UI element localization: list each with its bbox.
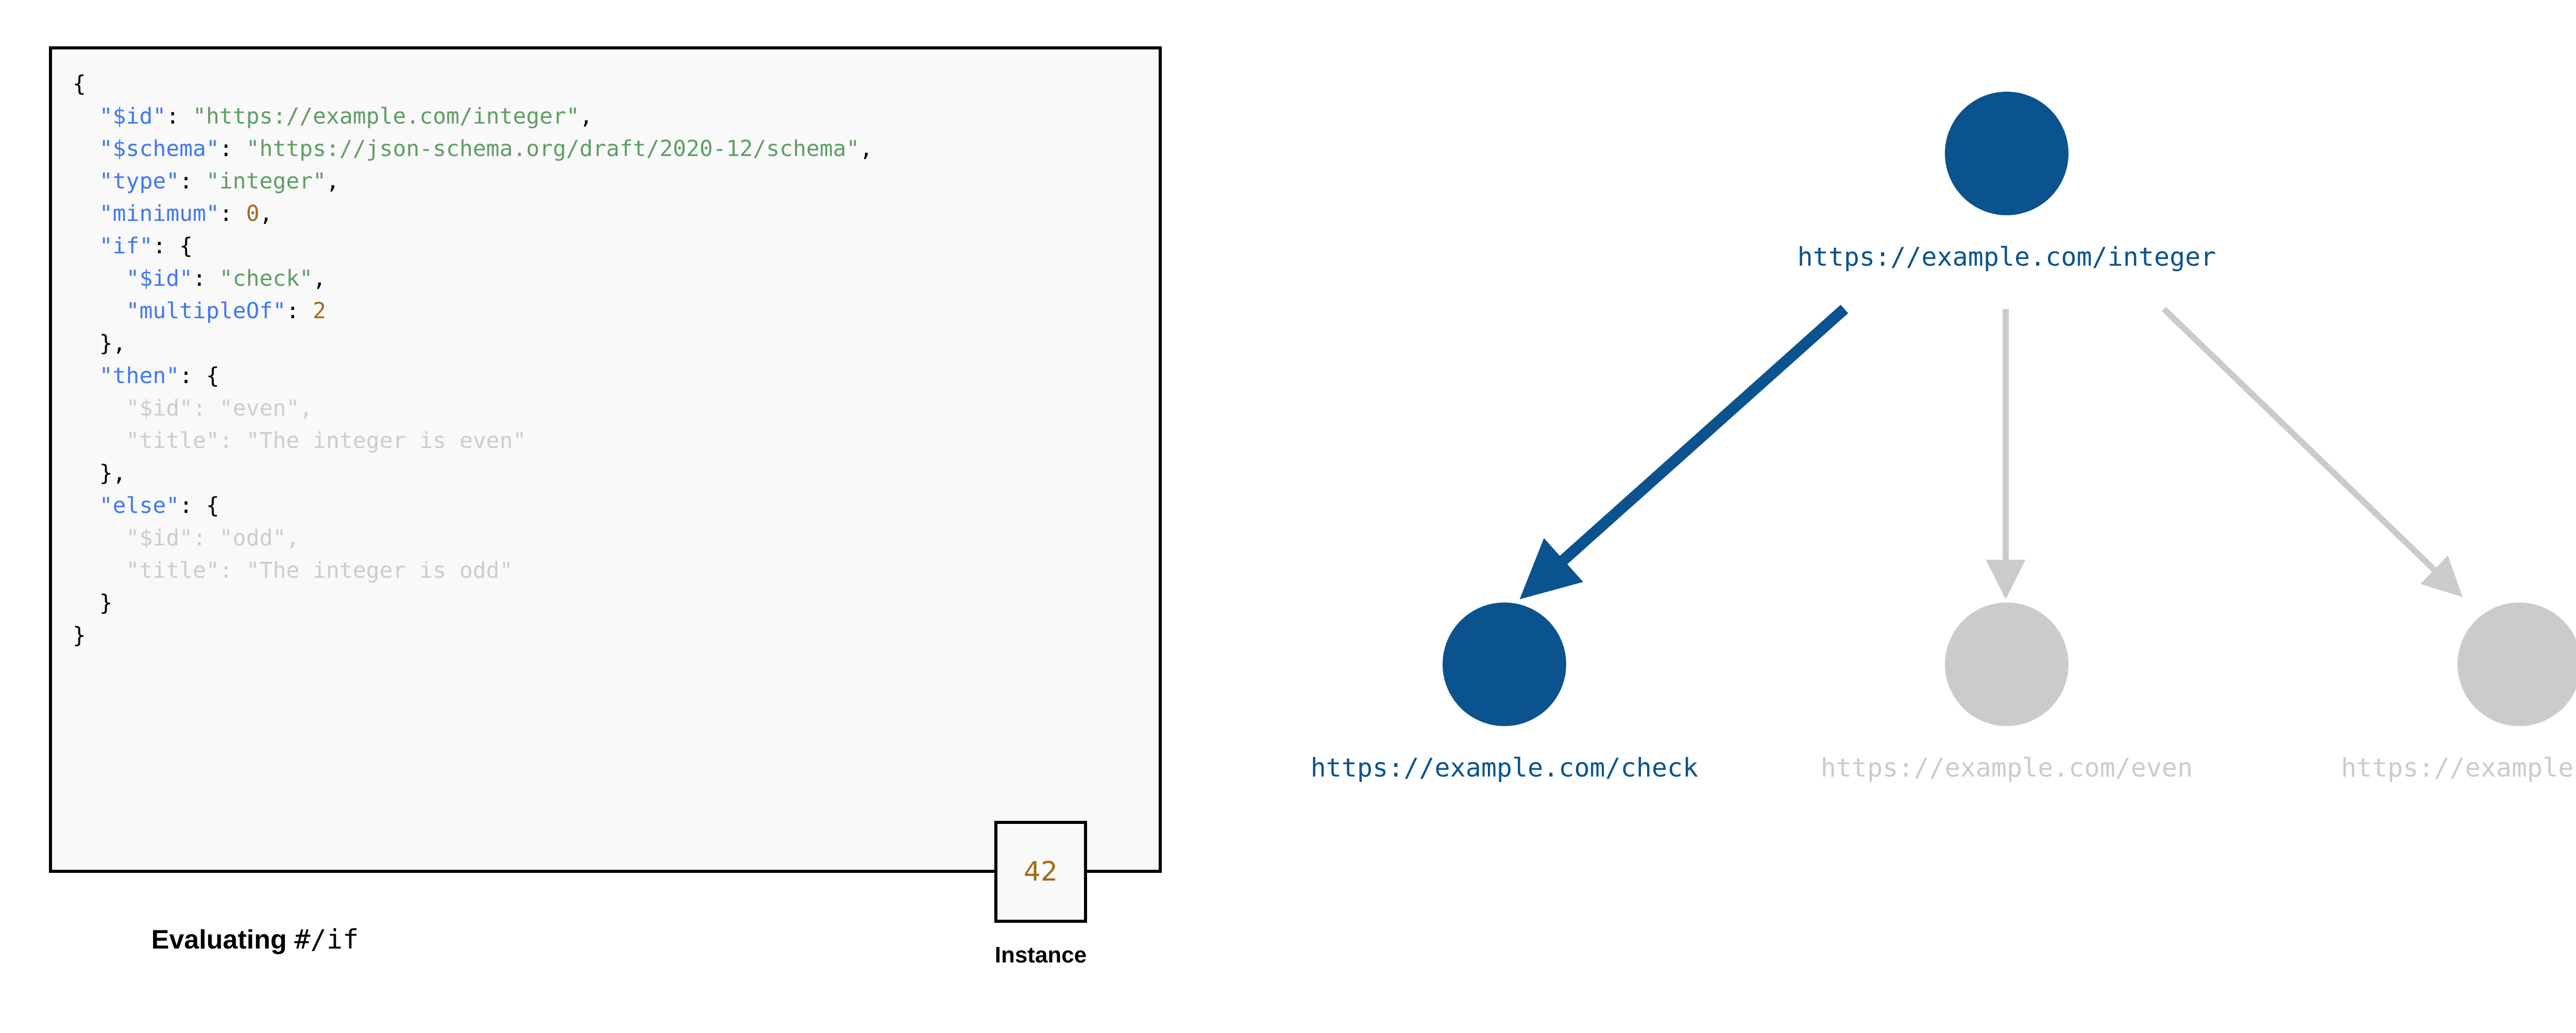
code-line: "$schema": "https://json-schema.org/draf… — [73, 133, 873, 165]
code-line: }, — [73, 457, 873, 490]
code-token: "title" — [126, 558, 219, 583]
graph-edge-integer-to-check — [1528, 309, 1844, 592]
code-line: "title": "The integer is even" — [73, 425, 873, 457]
code-token: : — [219, 428, 246, 454]
code-token: "check" — [219, 266, 313, 291]
code-token: { — [73, 71, 86, 97]
code-token: "title" — [126, 428, 219, 454]
code-line: "$id": "odd", — [73, 522, 873, 555]
dynamic-scope-panel: https://example.com/integerhttps://examp… — [1236, 0, 2576, 1033]
code-line: "else": { — [73, 490, 873, 522]
code-line: "type": "integer", — [73, 165, 873, 198]
code-token: : — [219, 558, 246, 583]
code-token: : { — [152, 233, 193, 259]
graph-node-even[interactable] — [1945, 602, 2069, 726]
instance-caption: Instance — [956, 942, 1126, 968]
code-line: "multipleOf": 2 — [73, 295, 873, 328]
graph-node-label-odd: https://example.com/odd — [1721, 753, 2576, 783]
code-token: : — [166, 104, 193, 129]
code-token: , — [286, 525, 299, 551]
code-token: "The integer is odd" — [246, 558, 513, 583]
code-token: "integer" — [206, 168, 326, 194]
code-token: , — [259, 201, 273, 227]
schema-code-listing: { "$id": "https://example.com/integer", … — [73, 68, 873, 652]
graph-node-label-integer: https://example.com/integer — [1209, 242, 2576, 272]
code-line: "$id": "check", — [73, 263, 873, 295]
code-token: "$id" — [99, 104, 166, 129]
code-token: "else" — [99, 493, 179, 519]
code-token: : — [219, 136, 246, 162]
code-token: "$id" — [126, 525, 193, 551]
graph-edge-layer — [1528, 309, 2458, 592]
code-token: , — [313, 266, 326, 291]
code-token: : — [193, 525, 219, 551]
code-token: 0 — [246, 201, 260, 227]
code-token: : { — [179, 363, 219, 389]
code-line: "then": { — [73, 360, 873, 392]
code-token: : { — [179, 493, 219, 519]
code-token: 2 — [313, 298, 326, 324]
code-token: : — [219, 201, 246, 227]
code-token: "$id" — [126, 266, 193, 291]
code-token: , — [326, 168, 340, 194]
code-token: : — [193, 395, 219, 421]
code-token: : — [286, 298, 313, 324]
code-line: "if": { — [73, 230, 873, 263]
schema-panel: { "$id": "https://example.com/integer", … — [0, 0, 1236, 1033]
code-line: "title": "The integer is odd" — [73, 555, 873, 587]
code-token: "odd" — [219, 525, 286, 551]
code-token: "minimum" — [99, 201, 219, 227]
graph-edge-integer-to-odd — [2164, 309, 2458, 592]
code-line: "minimum": 0, — [73, 198, 873, 230]
code-token: , — [859, 136, 873, 162]
graph-node-layer — [1443, 92, 2576, 726]
code-token: } — [99, 590, 113, 616]
schema-caption-pointer: #/if — [294, 924, 359, 955]
instance-box: 42 — [994, 821, 1087, 923]
code-token: "then" — [99, 363, 179, 389]
code-line: { — [73, 68, 873, 100]
graph-node-odd[interactable] — [2458, 602, 2576, 726]
graph-node-check[interactable] — [1443, 602, 1566, 726]
code-token: , — [299, 395, 313, 421]
schema-code-box: { "$id": "https://example.com/integer", … — [49, 46, 1162, 873]
code-token: "even" — [219, 395, 299, 421]
code-token: : — [193, 266, 219, 291]
code-token: }, — [99, 331, 126, 356]
graph-node-integer[interactable] — [1945, 92, 2069, 215]
code-token: "The integer is even" — [246, 428, 527, 454]
code-token: "$id" — [126, 395, 193, 421]
dynamic-scope-graph — [1236, 0, 2576, 1033]
code-token: "type" — [99, 168, 179, 194]
code-line: }, — [73, 328, 873, 360]
instance-value: 42 — [1024, 856, 1058, 887]
code-line: } — [73, 619, 873, 652]
code-token: , — [580, 104, 593, 129]
code-token: "if" — [99, 233, 153, 259]
schema-panel-caption: Evaluating #/if — [62, 924, 448, 955]
code-token: "https://example.com/integer" — [193, 104, 580, 129]
schema-caption-prefix: Evaluating — [151, 925, 294, 955]
code-token: : — [179, 168, 206, 194]
code-token: "https://json-schema.org/draft/2020-12/s… — [246, 136, 860, 162]
code-token: }, — [99, 460, 126, 486]
code-token: } — [73, 623, 86, 648]
code-line: "$id": "even", — [73, 392, 873, 425]
code-token: "$schema" — [99, 136, 219, 162]
code-line: } — [73, 587, 873, 619]
code-token: "multipleOf" — [126, 298, 286, 324]
code-line: "$id": "https://example.com/integer", — [73, 100, 873, 133]
